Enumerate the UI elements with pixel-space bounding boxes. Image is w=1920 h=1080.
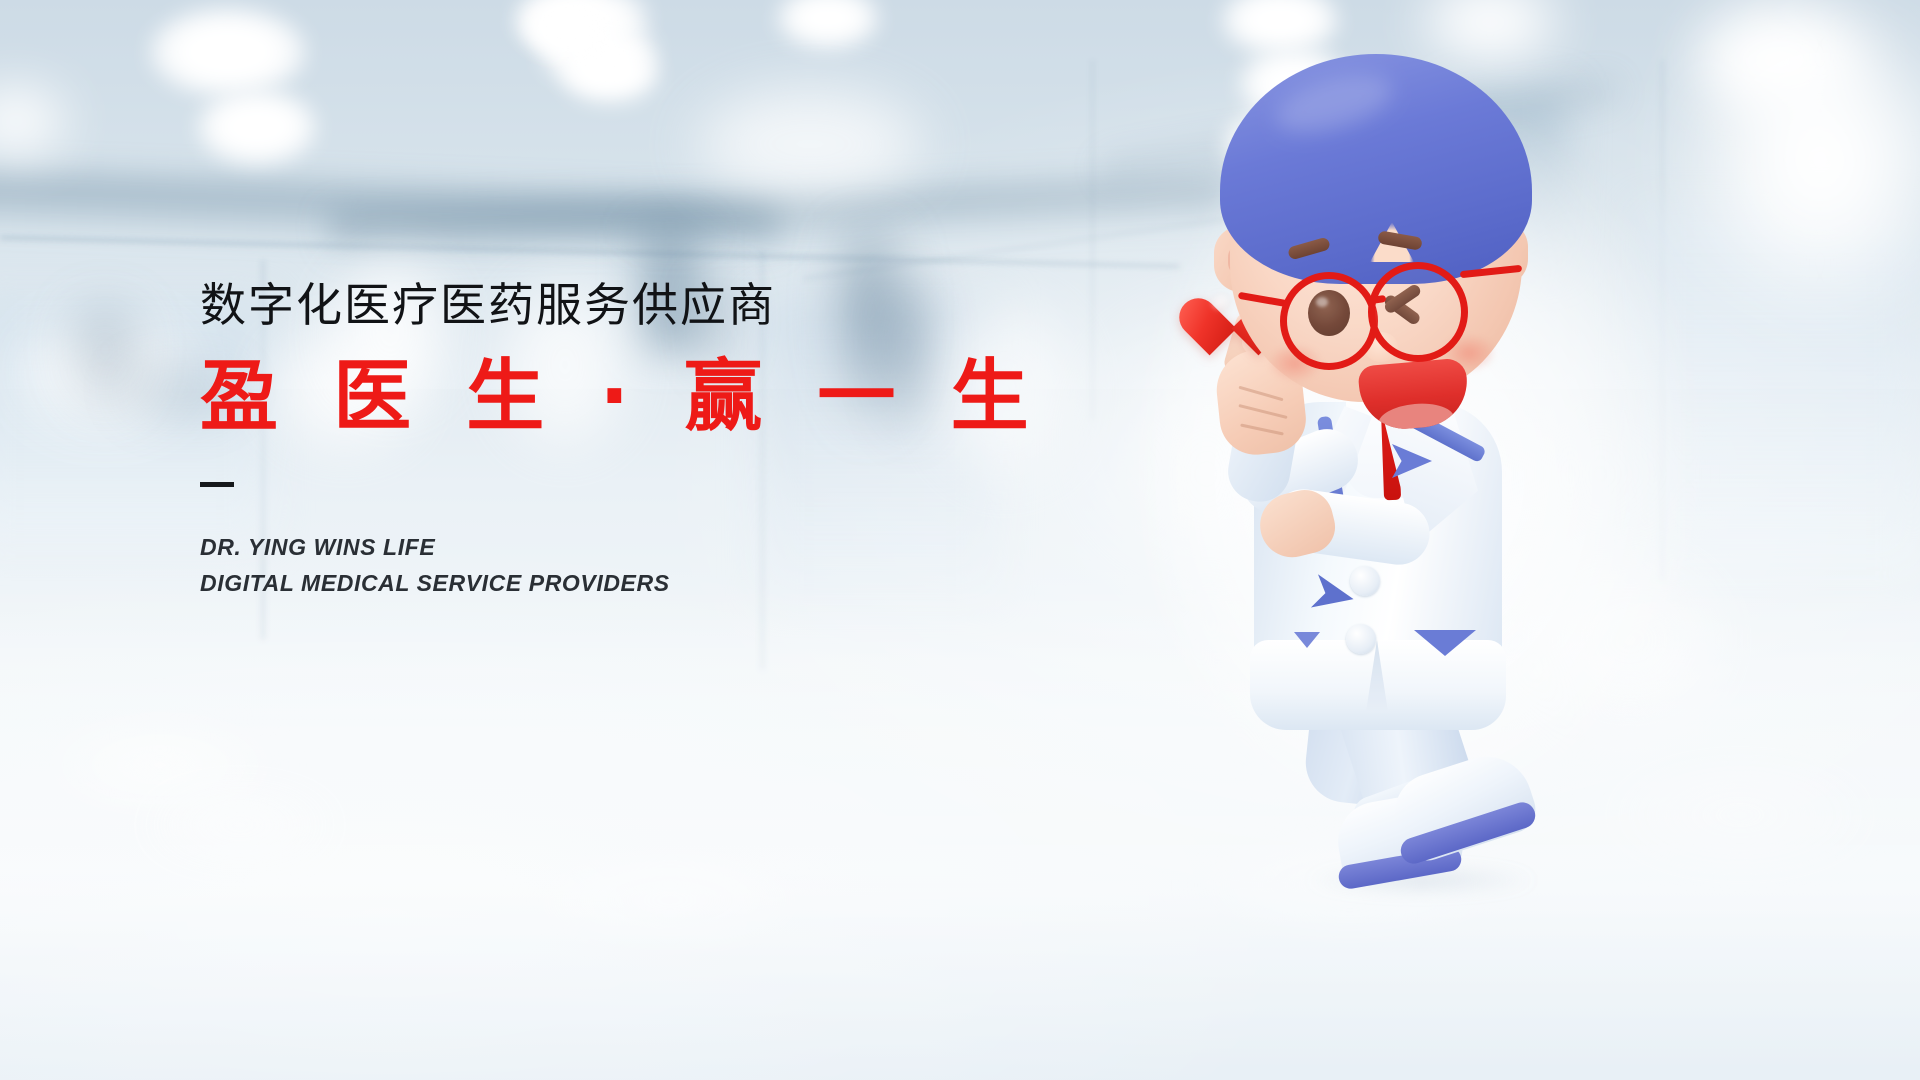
coat-button-2 xyxy=(1346,624,1376,654)
coat-button-1 xyxy=(1350,566,1380,596)
hero-banner: 数字化医疗医药服务供应商 盈 医 生 · 赢 一 生 DR. YING WINS… xyxy=(0,0,1920,1080)
hero-copy: 数字化医疗医药服务供应商 盈 医 生 · 赢 一 生 DR. YING WINS… xyxy=(200,282,1020,601)
architectural-line-6 xyxy=(1090,60,1095,420)
page-kicker: 数字化医疗医药服务供应商 xyxy=(200,282,1020,328)
corridor-light-far xyxy=(690,84,930,204)
latin-subtitle-line-1: DR. YING WINS LIFE xyxy=(200,529,1020,565)
glasses-lens-left xyxy=(1280,272,1378,370)
floor-reflection-3 xyxy=(520,860,820,940)
ceiling-light-1 xyxy=(148,6,308,98)
floor-reflection-2 xyxy=(140,790,340,860)
ceiling-light-9 xyxy=(530,6,606,56)
page-title: 盈 医 生 · 赢 一 生 xyxy=(200,358,1020,436)
latin-subtitle: DR. YING WINS LIFE DIGITAL MEDICAL SERVI… xyxy=(200,529,1020,601)
floor-reflection-5 xyxy=(1600,760,1880,870)
doctor-mascot xyxy=(1216,44,1636,864)
latin-subtitle-line-2: DIGITAL MEDICAL SERVICE PROVIDERS xyxy=(200,565,1020,601)
ceiling-light-2 xyxy=(196,88,318,166)
title-divider xyxy=(200,482,234,487)
glasses-lens-right xyxy=(1368,262,1468,362)
